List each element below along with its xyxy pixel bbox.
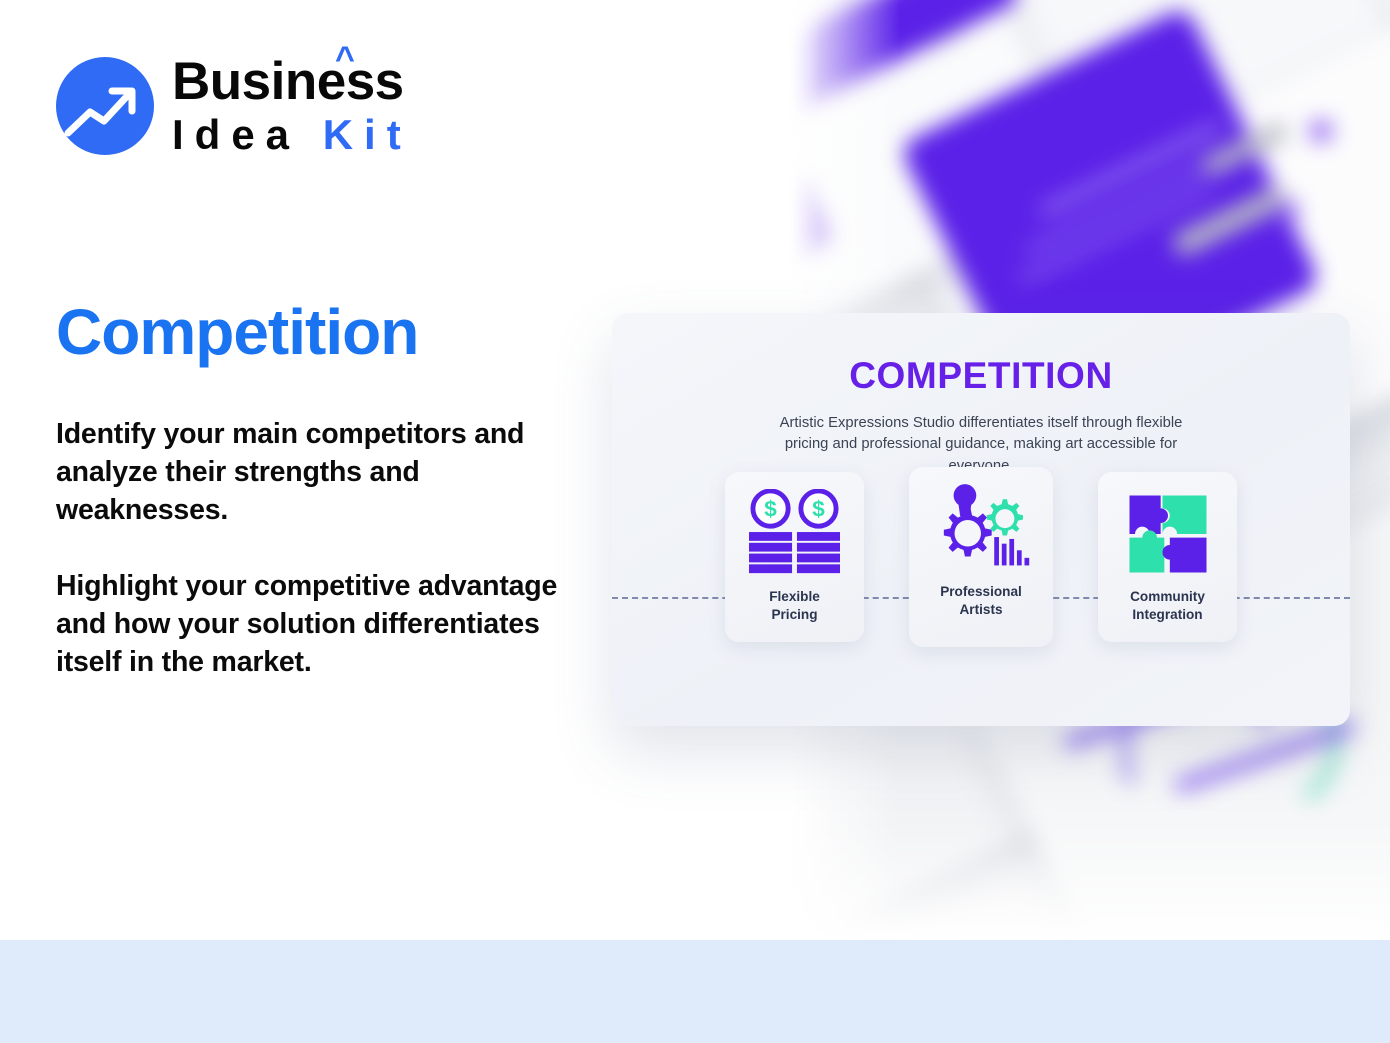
- brand-name-line2: Idea Kit: [172, 114, 412, 156]
- brand-logo[interactable]: Business ^ Idea Kit: [56, 55, 412, 156]
- feature-list: $ $: [612, 313, 1350, 726]
- body-paragraph-2: Highlight your competitive advantage and…: [56, 567, 576, 682]
- body-copy: Identify your main competitors and analy…: [56, 415, 576, 681]
- coin-stacks-icon: $ $: [746, 486, 844, 582]
- feature-label-line2: Integration: [1130, 606, 1205, 624]
- svg-text:$: $: [812, 496, 825, 521]
- slide-root: Business ^ Idea Kit Competition Identify…: [0, 0, 1390, 1043]
- competition-content-card: COMPETITION Artistic Expressions Studio …: [612, 313, 1350, 726]
- feature-card-professional-artists[interactable]: Professional Artists: [909, 467, 1053, 647]
- body-paragraph-1: Identify your main competitors and analy…: [56, 415, 576, 530]
- feature-label-line1: Community: [1130, 588, 1205, 606]
- brand-name-kit: Kit: [323, 111, 412, 158]
- page-title: Competition: [56, 295, 418, 369]
- feature-label-community-integration: Community Integration: [1130, 588, 1205, 623]
- feature-label-line2: Artists: [940, 601, 1022, 619]
- feature-label-line1: Flexible: [769, 588, 820, 606]
- growth-arrow-circle-icon: [56, 57, 154, 155]
- svg-text:$: $: [764, 496, 777, 521]
- brand-accent-caret: ^: [335, 42, 354, 76]
- feature-card-community-integration[interactable]: Community Integration: [1098, 472, 1237, 642]
- feature-label-flexible-pricing: Flexible Pricing: [769, 588, 820, 623]
- feature-label-professional-artists: Professional Artists: [940, 583, 1022, 618]
- puzzle-pieces-icon: [1124, 486, 1212, 582]
- feature-label-line1: Professional: [940, 583, 1022, 601]
- brand-name-idea: Idea: [172, 111, 300, 158]
- brand-name-line1: Business ^: [172, 55, 412, 108]
- feature-label-line2: Pricing: [769, 606, 820, 624]
- gears-lightbulb-chart-icon: [929, 481, 1033, 577]
- feature-card-flexible-pricing[interactable]: $ $: [725, 472, 864, 642]
- brand-wordmark: Business ^ Idea Kit: [172, 55, 412, 156]
- brand-name-business: Business: [172, 52, 404, 111]
- bottom-accent-strip: [0, 940, 1390, 1043]
